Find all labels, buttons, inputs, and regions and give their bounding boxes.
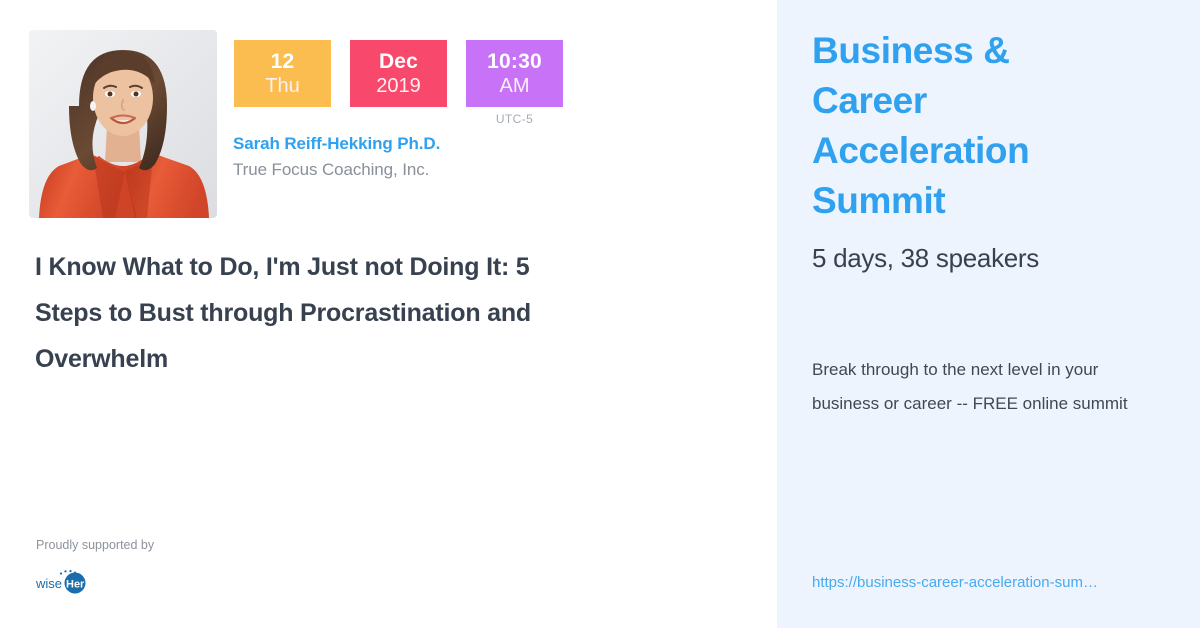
summit-title: Business & Career Acceleration Summit [812, 26, 1112, 226]
speaker-name[interactable]: Sarah Reiff-Hekking Ph.D. [233, 134, 440, 154]
summit-panel: Business & Career Acceleration Summit 5 … [777, 0, 1200, 628]
timezone-label: UTC-5 [466, 112, 563, 126]
date-chip-month-name: Dec [350, 49, 447, 74]
wiseher-logo[interactable]: wise Her [36, 568, 92, 594]
date-chip-time-clock: 10:30 [466, 49, 563, 74]
date-chip-day-number: 12 [234, 49, 331, 74]
date-chip-time: 10:30 AM [466, 40, 563, 107]
date-chip-month: Dec 2019 [350, 40, 447, 107]
svg-text:Her: Her [66, 579, 85, 591]
speaker-organization: True Focus Coaching, Inc. [233, 160, 429, 180]
event-promo-card: 12 Thu Dec 2019 10:30 AM UTC-5 Sarah Rei… [0, 0, 1200, 628]
summit-subtitle: 5 days, 38 speakers [812, 243, 1039, 274]
summit-url-link[interactable]: https://business-career-acceleration-sum… [812, 574, 1157, 591]
sponsor-label: Proudly supported by [36, 538, 154, 552]
date-chip-month-year: 2019 [350, 74, 447, 98]
speaker-photo [29, 30, 217, 218]
session-datetime-chips: 12 Thu Dec 2019 10:30 AM [234, 40, 563, 107]
date-chip-time-meridiem: AM [466, 74, 563, 98]
date-chip-day-weekday: Thu [234, 74, 331, 98]
svg-text:wise: wise [36, 576, 62, 591]
summit-description: Break through to the next level in your … [812, 353, 1164, 421]
date-chip-day: 12 Thu [234, 40, 331, 107]
session-panel: 12 Thu Dec 2019 10:30 AM UTC-5 Sarah Rei… [0, 0, 777, 628]
session-title: I Know What to Do, I'm Just not Doing It… [35, 244, 555, 382]
